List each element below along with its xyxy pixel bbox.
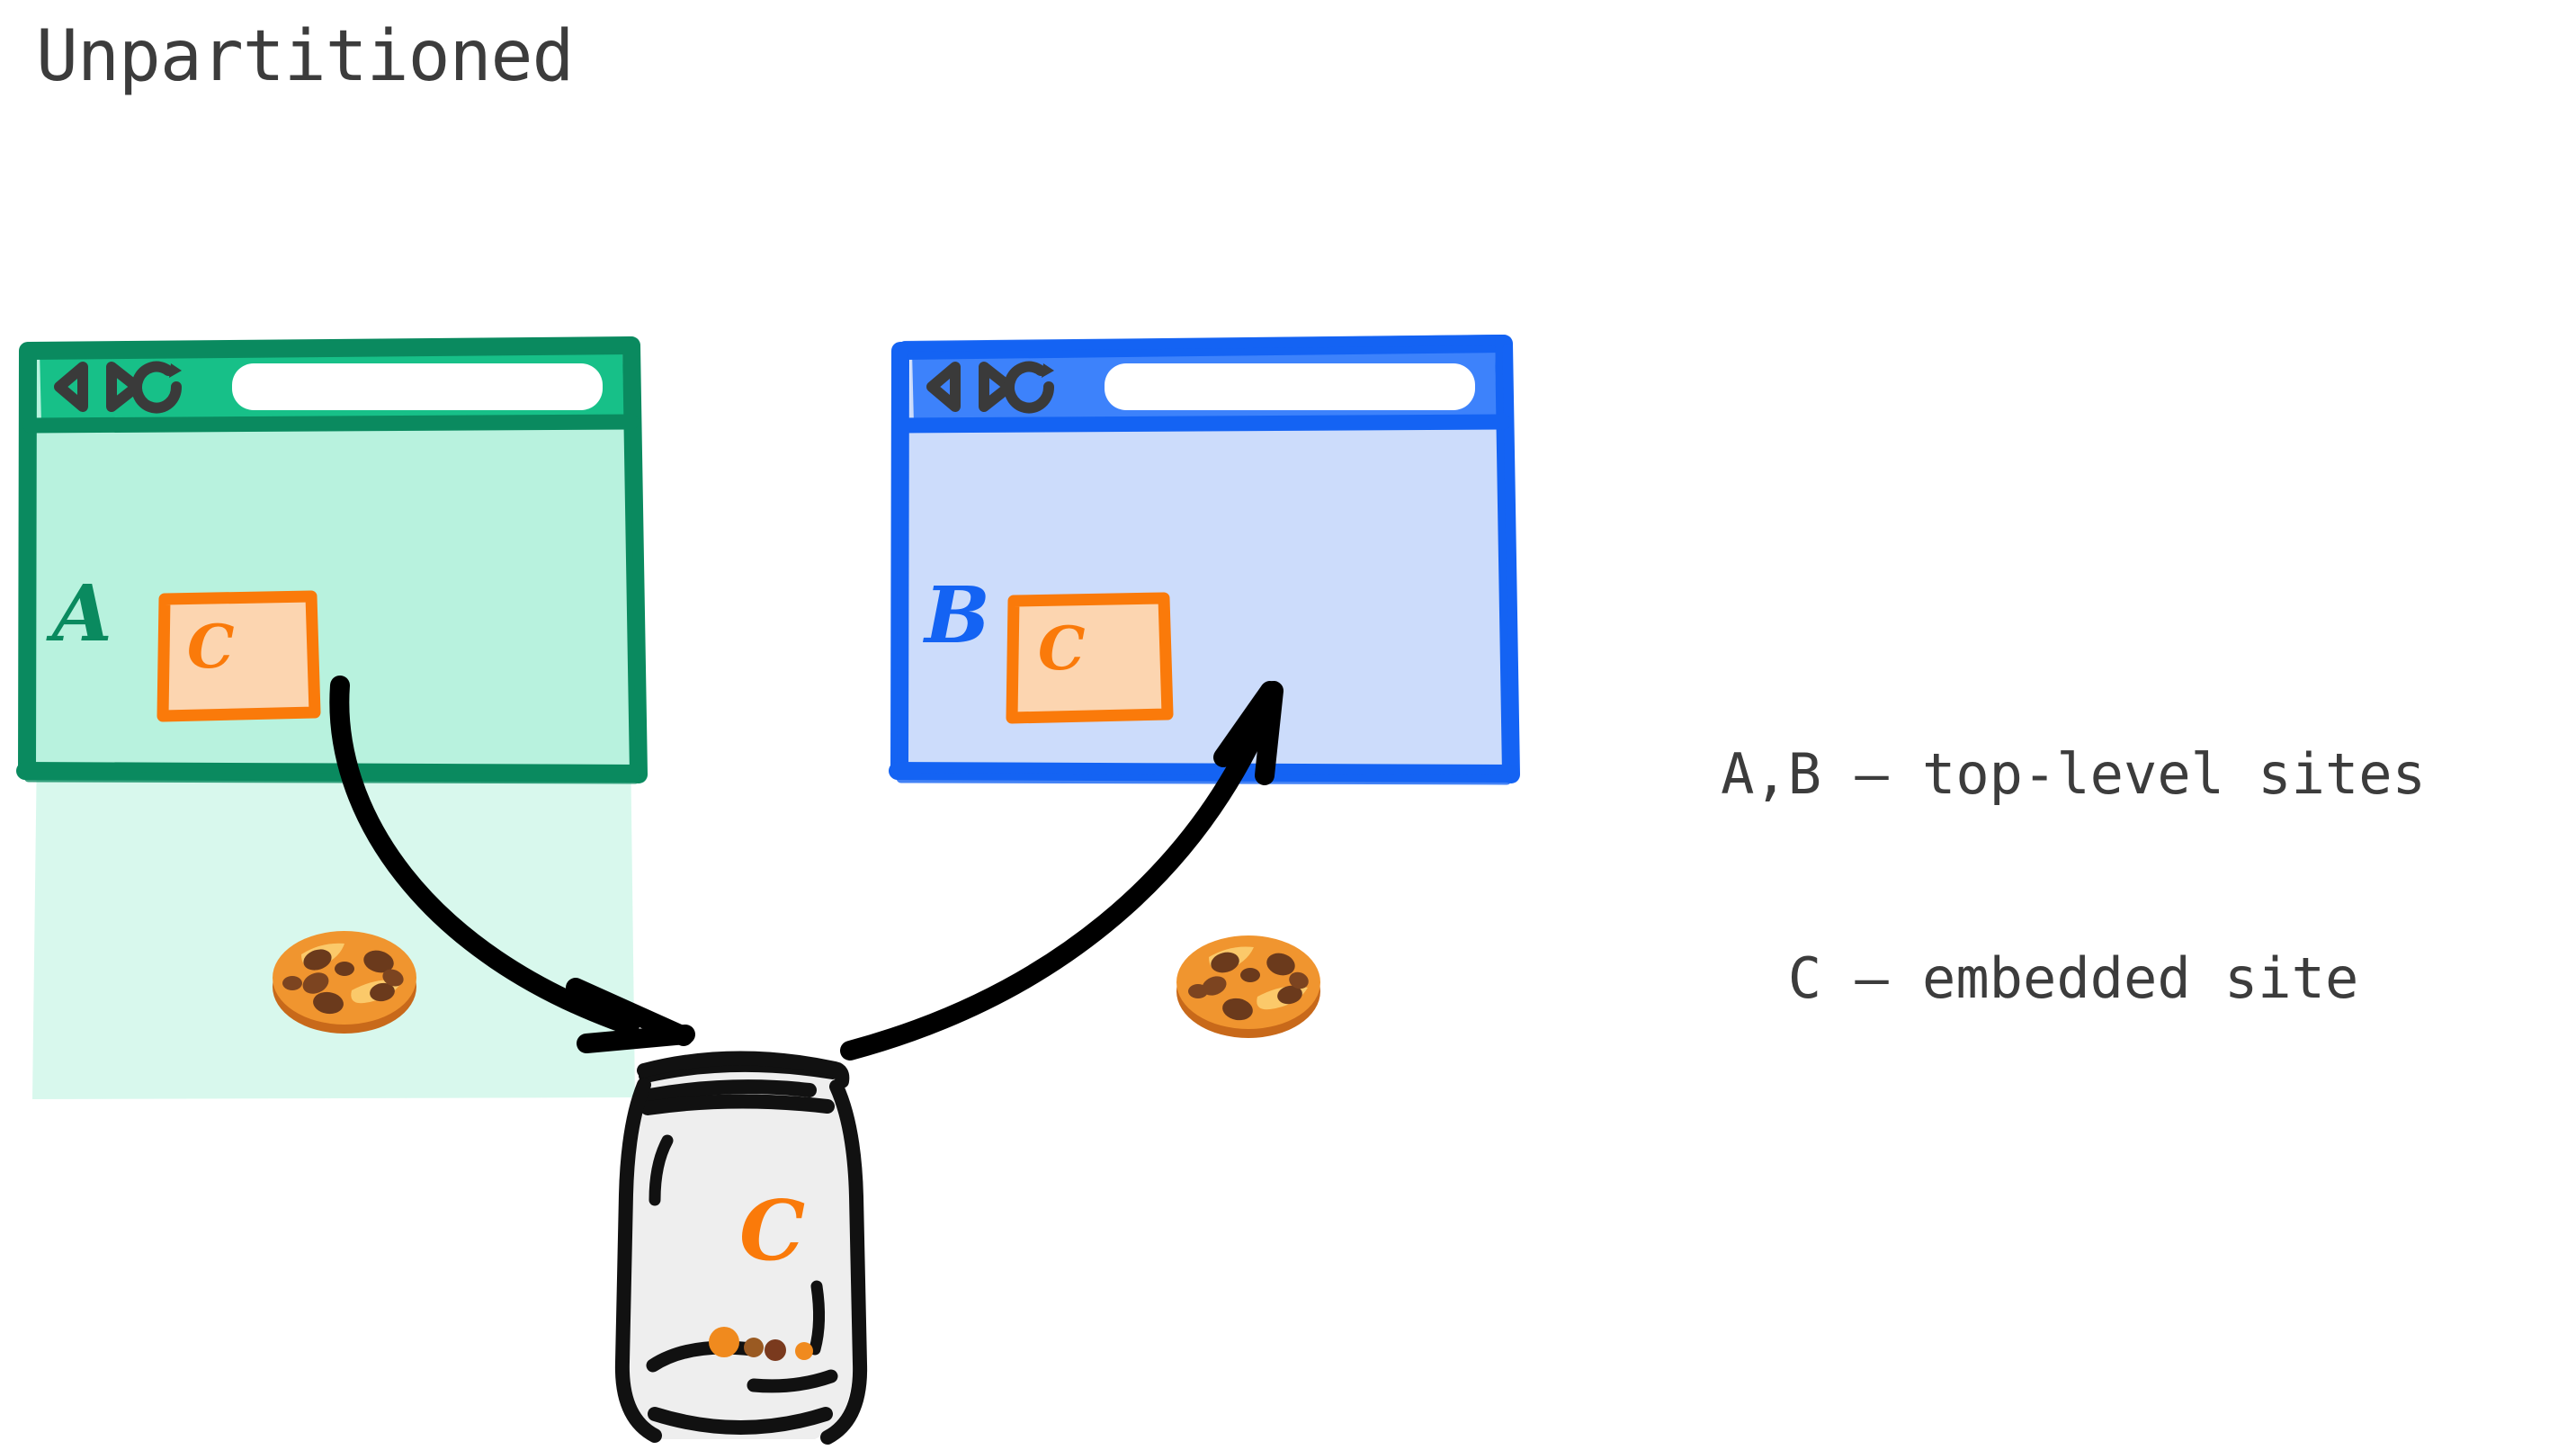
jar-letter: C — [739, 1182, 805, 1279]
cookie-jar[interactable]: C — [0, 0, 2576, 1450]
diagram-canvas: Unpartitioned — [0, 0, 2576, 1450]
